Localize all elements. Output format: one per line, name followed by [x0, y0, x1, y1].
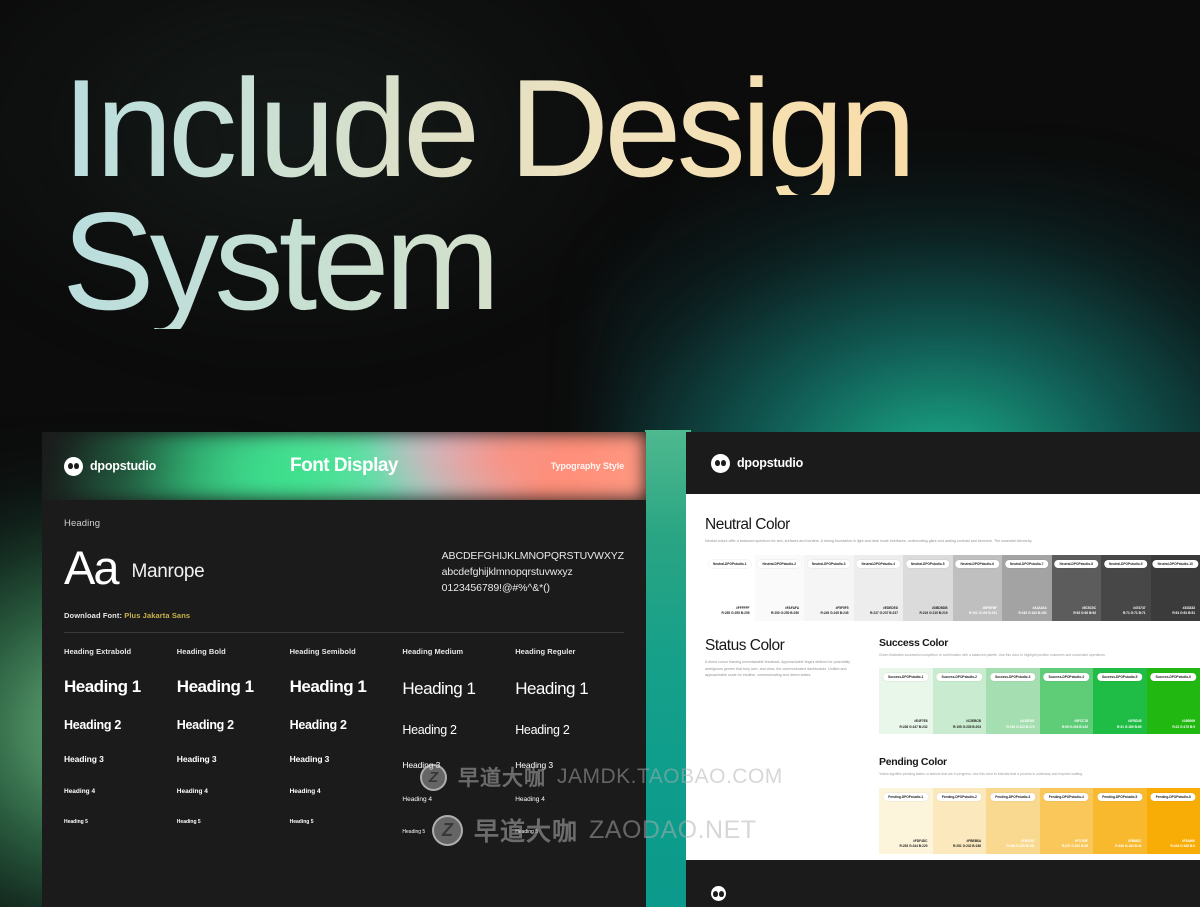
- neutral-swatch-chip-label: Neutral-DPOPstudio-5: [906, 560, 949, 568]
- neutral-swatch-rgb: R:71 G:71 B:71: [1123, 611, 1146, 616]
- quote-icon: [711, 886, 726, 901]
- heading-2-bold: Heading 2: [177, 718, 286, 732]
- section-label-heading: Heading: [64, 518, 624, 529]
- neutral-swatch-rgb: R:255 G:255 B:255: [722, 611, 750, 616]
- neutral-swatch-chip-label: Neutral-DPOPstudio-4: [857, 560, 900, 568]
- neutral-color-description: Neutral colors offer a balanced spectrum…: [705, 538, 1165, 545]
- heading-row-3: Heading 3 Heading 3 Heading 3 Heading 3 …: [42, 754, 646, 764]
- neutral-swatch-chip-label: Neutral-DPOPstudio-3: [807, 560, 850, 568]
- neutral-swatch-meta: #FAFAFAR:250 G:250 B:250: [771, 606, 799, 617]
- weight-header-bold: Heading Bold: [177, 647, 286, 656]
- weight-header-regular: Heading Reguler: [515, 647, 624, 656]
- neutral-swatch-meta: #5C5C5CR:92 G:92 B:92: [1073, 606, 1096, 617]
- alphabet-digits: 0123456789!@#%^&*(): [442, 581, 624, 597]
- success-color-description: Green illustrates successful completion …: [879, 652, 1200, 658]
- neutral-swatch[interactable]: Neutral-DPOPstudio-3#F5F5F5R:245 G:245 B…: [804, 555, 854, 621]
- font-display-header: dpopstudio Font Display Typography Style: [42, 432, 646, 500]
- success-swatch-rgb: R:195 G:235 B:203: [953, 725, 981, 730]
- success-swatch-rgb: R:31 G:189 B:69: [1117, 725, 1141, 730]
- neutral-swatch-rgb: R:237 G:237 B:237: [870, 611, 898, 616]
- color-panel-footer: [686, 860, 1200, 907]
- weight-column-headers: Heading Extrabold Heading Bold Heading S…: [42, 647, 646, 656]
- pending-swatch-rgb: R:253 G:244 B:220: [900, 844, 928, 849]
- success-swatch-rgb: R:228 G:247 B:232: [900, 725, 928, 730]
- heading-1-extrabold: Heading 1: [64, 677, 173, 697]
- neutral-swatch-rgb: R:219 G:219 B:219: [920, 611, 948, 616]
- pending-swatch-rgb: R:247 G:201 B:95: [1062, 844, 1088, 849]
- success-swatch[interactable]: Success-DPOPstudio-6#16B009R:22 G:176 B:…: [1147, 668, 1200, 734]
- font-specimen-row: Aa Manrope ABCDEFGHIJKLMNOPQRSTUVWXYZ ab…: [64, 545, 624, 597]
- heading-4-extrabold: Heading 4: [64, 788, 173, 795]
- neutral-swatch[interactable]: Neutral-DPOPstudio-8#5C5C5CR:92 G:92 B:9…: [1052, 555, 1102, 621]
- success-swatch-chip-label: Success-DPOPstudio-6: [1151, 673, 1196, 681]
- success-swatch-rgb: R:22 G:176 B:9: [1172, 725, 1195, 730]
- heading-3-extrabold: Heading 3: [64, 754, 173, 764]
- font-display-panel: dpopstudio Font Display Typography Style…: [42, 432, 646, 907]
- success-color-block: Success Color Green illustrates successf…: [879, 637, 1200, 734]
- neutral-swatch[interactable]: Neutral-DPOPstudio-1#FFFFFFR:255 G:255 B…: [705, 555, 755, 621]
- heading-3-bold: Heading 3: [177, 754, 286, 764]
- heading-3-regular: Heading 3: [515, 760, 624, 770]
- success-swatch-chip-label: Success-DPOPstudio-4: [1044, 673, 1089, 681]
- success-swatch-meta: #5FCC78R:95 G:204 B:120: [1062, 719, 1088, 730]
- success-swatch-chip-label: Success-DPOPstudio-5: [1097, 673, 1142, 681]
- neutral-swatch-meta: #333333R:51 G:51 B:51: [1172, 606, 1195, 617]
- neutral-swatch-rgb: R:250 G:250 B:250: [771, 611, 799, 616]
- neutral-swatch-meta: #DBDBDBR:219 G:219 B:219: [920, 606, 948, 617]
- hero-title: Include Design System: [62, 62, 962, 329]
- success-swatch[interactable]: Success-DPOPstudio-5#1FBD45R:31 G:189 B:…: [1093, 668, 1147, 734]
- pending-swatch-chip-label: Pending-DPOPstudio-5: [1097, 793, 1142, 801]
- pending-color-title: Pending Color: [879, 756, 1200, 768]
- pending-swatch-chip-label: Pending-DPOPstudio-3: [990, 793, 1035, 801]
- neutral-swatch-chip-label: Neutral-DPOPstudio-1: [708, 560, 751, 568]
- neutral-swatch-meta: #EDEDEDR:237 G:237 B:237: [870, 606, 898, 617]
- neutral-swatch-chip-label: Neutral-DPOPstudio-9: [1104, 560, 1147, 568]
- heading-row-1: Heading 1 Heading 1 Heading 1 Heading 1 …: [42, 677, 646, 697]
- success-swatch-strip: Success-DPOPstudio-1#E4F7E8R:228 G:247 B…: [879, 668, 1200, 734]
- pending-color-description: Yellow signifies pending states or actio…: [879, 771, 1200, 777]
- heading-1-medium: Heading 1: [402, 679, 511, 699]
- neutral-swatch-meta: #FFFFFFR:255 G:255 B:255: [722, 606, 750, 617]
- pending-swatch-meta: #F9DC97R:249 G:220 B:151: [1007, 839, 1035, 850]
- neutral-swatch-rgb: R:191 G:191 B:191: [969, 611, 997, 616]
- pending-swatch-meta: #FBE8BAR:251 G:232 B:186: [953, 839, 981, 850]
- status-color-description: A direct colour framing unmistakable fee…: [705, 659, 865, 679]
- pending-swatch[interactable]: Pending-DPOPstudio-6#F5A800R:245 G:168 B…: [1147, 788, 1200, 854]
- success-swatch-chip-label: Success-DPOPstudio-3: [990, 673, 1035, 681]
- neutral-swatch-rgb: R:92 G:92 B:92: [1073, 611, 1096, 616]
- neutral-swatch-strip: Neutral-DPOPstudio-1#FFFFFFR:255 G:255 B…: [705, 555, 1200, 621]
- pending-swatch-meta: #F8B82CR:248 G:184 B:44: [1115, 839, 1141, 850]
- color-panel-body: Neutral Color Neutral colors offer a bal…: [686, 494, 1200, 907]
- pending-swatch-meta: #F7C95FR:247 G:201 B:95: [1062, 839, 1088, 850]
- success-swatch-meta: #A3DFAER:163 G:223 B:174: [1007, 719, 1035, 730]
- heading-1-bold: Heading 1: [177, 677, 286, 697]
- heading-1-semibold: Heading 1: [290, 677, 399, 697]
- neutral-swatch-meta: #BFBFBFR:191 G:191 B:191: [969, 606, 997, 617]
- weight-header-extrabold: Heading Extrabold: [64, 647, 173, 656]
- success-swatch-meta: #1FBD45R:31 G:189 B:69: [1117, 719, 1141, 730]
- success-swatch-meta: #E4F7E8R:228 G:247 B:232: [900, 719, 928, 730]
- pending-swatch[interactable]: Pending-DPOPstudio-2#FBE8BAR:251 G:232 B…: [933, 788, 987, 854]
- success-swatch[interactable]: Success-DPOPstudio-4#5FCC78R:95 G:204 B:…: [1040, 668, 1094, 734]
- brand-logo-right[interactable]: dpopstudio: [711, 454, 803, 473]
- section-divider: [64, 632, 624, 633]
- neutral-swatch-meta: #474747R:71 G:71 B:71: [1123, 606, 1146, 617]
- success-swatch-chip-label: Success-DPOPstudio-1: [883, 673, 928, 681]
- pending-swatch-rgb: R:251 G:232 B:186: [953, 844, 981, 849]
- pending-swatch-strip: Pending-DPOPstudio-1#FDF4DCR:253 G:244 B…: [879, 788, 1200, 854]
- specimen-aa: Aa: [64, 545, 118, 590]
- alphabet-lowercase: abcdefghijklmnopqrstuvwxyz: [442, 565, 624, 581]
- neutral-swatch-chip-label: Neutral-DPOPstudio-8: [1055, 560, 1098, 568]
- alphabet-specimen: ABCDEFGHIJKLMNOPQRSTUVWXYZ abcdefghijklm…: [442, 549, 624, 597]
- pending-color-block: Pending Color Yellow signifies pending s…: [879, 756, 1200, 853]
- heading-5-bold: Heading 5: [177, 819, 286, 825]
- success-swatch-meta: #16B009R:22 G:176 B:9: [1172, 719, 1195, 730]
- pending-swatch[interactable]: Pending-DPOPstudio-4#F7C95FR:247 G:201 B…: [1040, 788, 1094, 854]
- heading-2-semibold: Heading 2: [290, 718, 399, 732]
- hero-line-2: System: [62, 195, 962, 328]
- neutral-swatch-rgb: R:51 G:51 B:51: [1172, 611, 1195, 616]
- neutral-swatch-chip-label: Neutral-DPOPstudio-2: [758, 560, 801, 568]
- hero-line-1: Include Design: [62, 62, 962, 195]
- neutral-swatch-chip-label: Neutral-DPOPstudio-10: [1153, 560, 1198, 568]
- heading-2-medium: Heading 2: [402, 723, 511, 737]
- success-swatch[interactable]: Success-DPOPstudio-1#E4F7E8R:228 G:247 B…: [879, 668, 933, 734]
- specimen-font-name: Manrope: [132, 561, 205, 583]
- heading-2-extrabold: Heading 2: [64, 718, 173, 732]
- quote-icon: [711, 454, 730, 473]
- brand-name: dpopstudio: [737, 456, 803, 470]
- pending-swatch-rgb: R:248 G:184 B:44: [1115, 844, 1141, 849]
- pending-swatch-chip-label: Pending-DPOPstudio-1: [883, 793, 928, 801]
- teal-divider-band: [645, 430, 691, 907]
- neutral-swatch[interactable]: Neutral-DPOPstudio-9#474747R:71 G:71 B:7…: [1101, 555, 1151, 621]
- pending-swatch-chip-label: Pending-DPOPstudio-6: [1151, 793, 1196, 801]
- success-swatch[interactable]: Success-DPOPstudio-2#C3EBCBR:195 G:235 B…: [933, 668, 987, 734]
- pending-swatch[interactable]: Pending-DPOPstudio-3#F9DC97R:249 G:220 B…: [986, 788, 1040, 854]
- color-panel-header: dpopstudio: [686, 432, 1200, 494]
- heading-4-medium: Heading 4: [402, 796, 511, 803]
- heading-1-regular: Heading 1: [515, 679, 624, 699]
- neutral-swatch-chip-label: Neutral-DPOPstudio-6: [956, 560, 999, 568]
- heading-5-regular: Heading 5: [515, 829, 624, 835]
- success-color-title: Success Color: [879, 637, 1200, 649]
- success-swatch-chip-label: Success-DPOPstudio-2: [937, 673, 982, 681]
- neutral-swatch[interactable]: Neutral-DPOPstudio-10#333333R:51 G:51 B:…: [1151, 555, 1200, 621]
- download-font-link[interactable]: Plus Jakarta Sans: [124, 611, 190, 620]
- neutral-color-title: Neutral Color: [705, 516, 1200, 534]
- pending-swatch-meta: #F5A800R:245 G:168 B:0: [1171, 839, 1195, 850]
- pending-swatch-chip-label: Pending-DPOPstudio-2: [937, 793, 982, 801]
- panel-subtitle: Typography Style: [551, 461, 624, 471]
- heading-4-bold: Heading 4: [177, 788, 286, 795]
- pending-swatch-meta: #FDF4DCR:253 G:244 B:220: [900, 839, 928, 850]
- neutral-swatch[interactable]: Neutral-DPOPstudio-2#FAFAFAR:250 G:250 B…: [755, 555, 805, 621]
- success-swatch-rgb: R:163 G:223 B:174: [1007, 725, 1035, 730]
- heading-3-semibold: Heading 3: [290, 754, 399, 764]
- heading-3-medium: Heading 3: [402, 760, 511, 770]
- neutral-swatch-meta: #F5F5F5R:245 G:245 B:245: [821, 606, 849, 617]
- pending-swatch-rgb: R:249 G:220 B:151: [1007, 844, 1035, 849]
- status-color-title: Status Color: [705, 637, 865, 655]
- pending-swatch[interactable]: Pending-DPOPstudio-1#FDF4DCR:253 G:244 B…: [879, 788, 933, 854]
- success-swatch-meta: #C3EBCBR:195 G:235 B:203: [953, 719, 981, 730]
- status-color-intro: Status Color A direct colour framing unm…: [705, 637, 865, 854]
- heading-row-4: Heading 4 Heading 4 Heading 4 Heading 4 …: [42, 788, 646, 795]
- heading-row-5: Heading 5 Heading 5 Heading 5 Heading 5 …: [42, 819, 646, 825]
- download-font-row: Download Font: Plus Jakarta Sans: [64, 611, 624, 620]
- heading-2-regular: Heading 2: [515, 723, 624, 737]
- success-swatch-rgb: R:95 G:204 B:120: [1062, 725, 1088, 730]
- heading-5-extrabold: Heading 5: [64, 819, 173, 825]
- neutral-swatch[interactable]: Neutral-DPOPstudio-6#BFBFBFR:191 G:191 B…: [953, 555, 1003, 621]
- color-system-panel: dpopstudio Neutral Color Neutral colors …: [686, 432, 1200, 907]
- status-color-section: Status Color A direct colour framing unm…: [705, 637, 1200, 854]
- neutral-swatch-meta: #A3A3A3R:163 G:163 B:163: [1019, 606, 1047, 617]
- neutral-swatch[interactable]: Neutral-DPOPstudio-5#DBDBDBR:219 G:219 B…: [903, 555, 953, 621]
- pending-swatch-rgb: R:245 G:168 B:0: [1171, 844, 1195, 849]
- weight-header-medium: Heading Medium: [402, 647, 511, 656]
- heading-5-semibold: Heading 5: [290, 819, 399, 825]
- neutral-swatch[interactable]: Neutral-DPOPstudio-7#A3A3A3R:163 G:163 B…: [1002, 555, 1052, 621]
- heading-row-2: Heading 2 Heading 2 Heading 2 Heading 2 …: [42, 718, 646, 732]
- neutral-swatch-rgb: R:163 G:163 B:163: [1019, 611, 1047, 616]
- download-font-label: Download Font:: [64, 611, 122, 620]
- pending-swatch-chip-label: Pending-DPOPstudio-4: [1044, 793, 1089, 801]
- heading-4-regular: Heading 4: [515, 796, 624, 803]
- heading-5-medium: Heading 5: [402, 829, 511, 835]
- neutral-swatch[interactable]: Neutral-DPOPstudio-4#EDEDEDR:237 G:237 B…: [854, 555, 904, 621]
- success-swatch[interactable]: Success-DPOPstudio-3#A3DFAER:163 G:223 B…: [986, 668, 1040, 734]
- pending-swatch[interactable]: Pending-DPOPstudio-5#F8B82CR:248 G:184 B…: [1093, 788, 1147, 854]
- heading-4-semibold: Heading 4: [290, 788, 399, 795]
- weight-header-semibold: Heading Semibold: [290, 647, 399, 656]
- screenshot-stage: Include Design System dpopstudio Font Di…: [0, 0, 1200, 907]
- font-display-body: Heading Aa Manrope ABCDEFGHIJKLMNOPQRSTU…: [42, 500, 646, 633]
- neutral-swatch-rgb: R:245 G:245 B:245: [821, 611, 849, 616]
- alphabet-uppercase: ABCDEFGHIJKLMNOPQRSTUVWXYZ: [442, 549, 624, 565]
- neutral-swatch-chip-label: Neutral-DPOPstudio-7: [1005, 560, 1048, 568]
